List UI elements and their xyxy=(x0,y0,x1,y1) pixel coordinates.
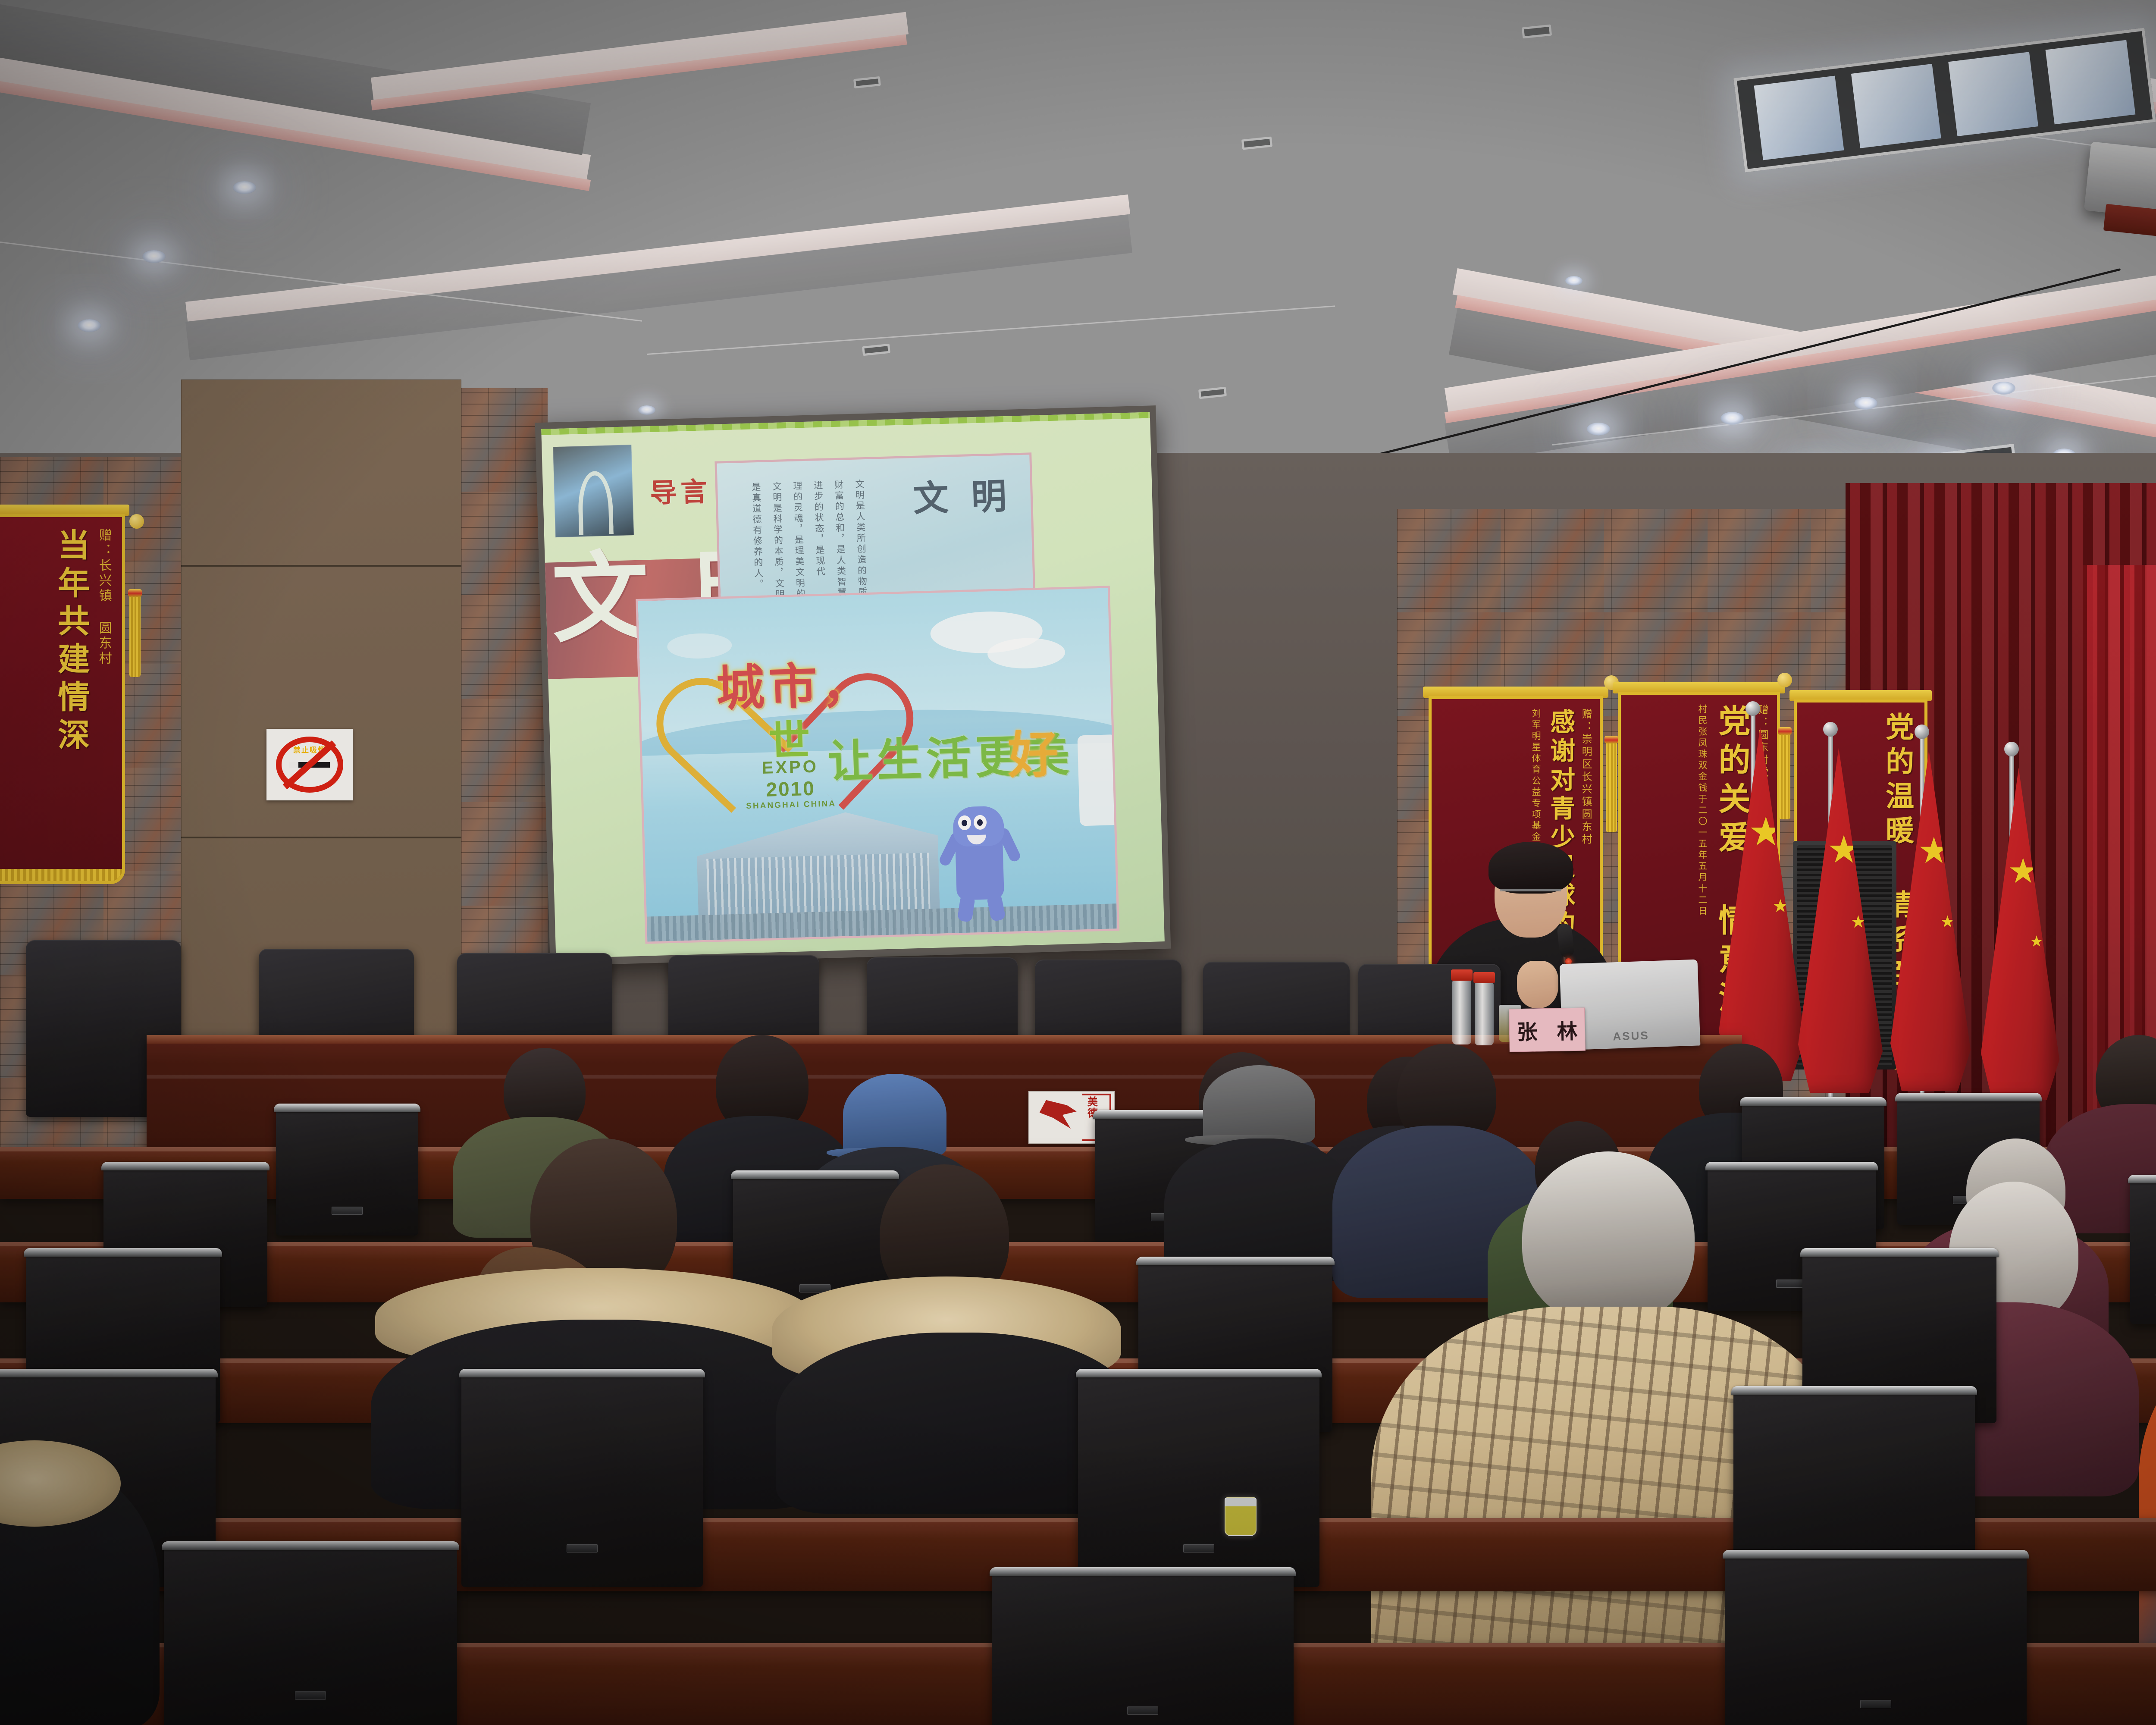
ceiling-downlight xyxy=(1565,276,1583,285)
ceiling-downlight xyxy=(78,319,101,332)
banner-tassel xyxy=(1779,733,1790,819)
banner-left: 赠：长兴镇 圆东村 当年共建情深 xyxy=(0,505,129,884)
expo-logo-text-3: SHANGHAI CHINA xyxy=(743,799,839,811)
ceiling-downlight xyxy=(233,181,256,194)
ceiling-downlight xyxy=(638,405,655,415)
ceiling-downlight xyxy=(142,250,166,263)
ceiling-downlight xyxy=(1854,397,1877,410)
expo-logo-text-1: EXPO xyxy=(743,756,838,778)
ceiling-downlight xyxy=(1587,423,1610,436)
quote-heading: 文 明 xyxy=(912,467,1012,521)
audience-chair xyxy=(276,1106,418,1236)
knit-beanie-hat xyxy=(843,1074,946,1156)
expo-mascot-haibao xyxy=(941,793,1022,925)
no-smoking-sign: 禁止吸烟 xyxy=(266,729,353,800)
projection-screen: 导言 文 明 文 明 文明是人类所创造的物质 财富的总和，是人类智慧 进步的状态… xyxy=(541,412,1165,959)
audience-chair xyxy=(1078,1371,1319,1587)
crane-icon xyxy=(1040,1100,1077,1129)
audience-chair xyxy=(992,1570,1294,1725)
banner-knot xyxy=(1777,673,1792,687)
expo-line-3: 好 xyxy=(1007,714,1061,787)
banner-tassel xyxy=(129,595,141,677)
banner-knot xyxy=(129,514,144,529)
speaker-nameplate: 张 林 xyxy=(1509,1007,1586,1052)
audience-chair xyxy=(164,1544,457,1725)
slide-expo-poster: 城市， 让生活更美 好 世 EXPO 2010 SHANGHAI CHINA xyxy=(636,586,1119,944)
speaker-hand xyxy=(1517,961,1558,1008)
expo-line-1: 城市， xyxy=(715,646,875,720)
audience-head xyxy=(1522,1151,1695,1324)
water-bottle xyxy=(1475,982,1494,1045)
audience-chair xyxy=(461,1371,703,1587)
expo-logo-text-2: 2010 xyxy=(743,776,838,802)
speaker-glasses xyxy=(1500,889,1561,891)
ceiling-downlight xyxy=(1720,412,1744,425)
water-bottle xyxy=(1452,980,1471,1044)
flat-cap-hat xyxy=(1203,1065,1315,1143)
banner-main-text: 当年共建情深 xyxy=(48,528,94,864)
nameplate-text: 张 林 xyxy=(1510,1014,1584,1046)
banner-side-text: 赠：长兴镇 圆东村 xyxy=(94,528,113,864)
ceiling-downlight xyxy=(1992,382,2015,395)
slide-thumbnail-image xyxy=(553,445,634,537)
audience-chair xyxy=(2130,1177,2156,1324)
speaker-hair xyxy=(1489,842,1573,894)
meeting-hall-photo: 禁止吸烟 xyxy=(0,0,2156,1725)
slide-section-label: 导言 xyxy=(649,470,711,510)
audience-chair xyxy=(1725,1552,2027,1725)
laptop-brand-label: ASUS xyxy=(1613,1029,1649,1043)
expo-logo: 世 EXPO 2010 SHANGHAI CHINA xyxy=(742,723,839,811)
tea-cup xyxy=(1225,1497,1257,1536)
